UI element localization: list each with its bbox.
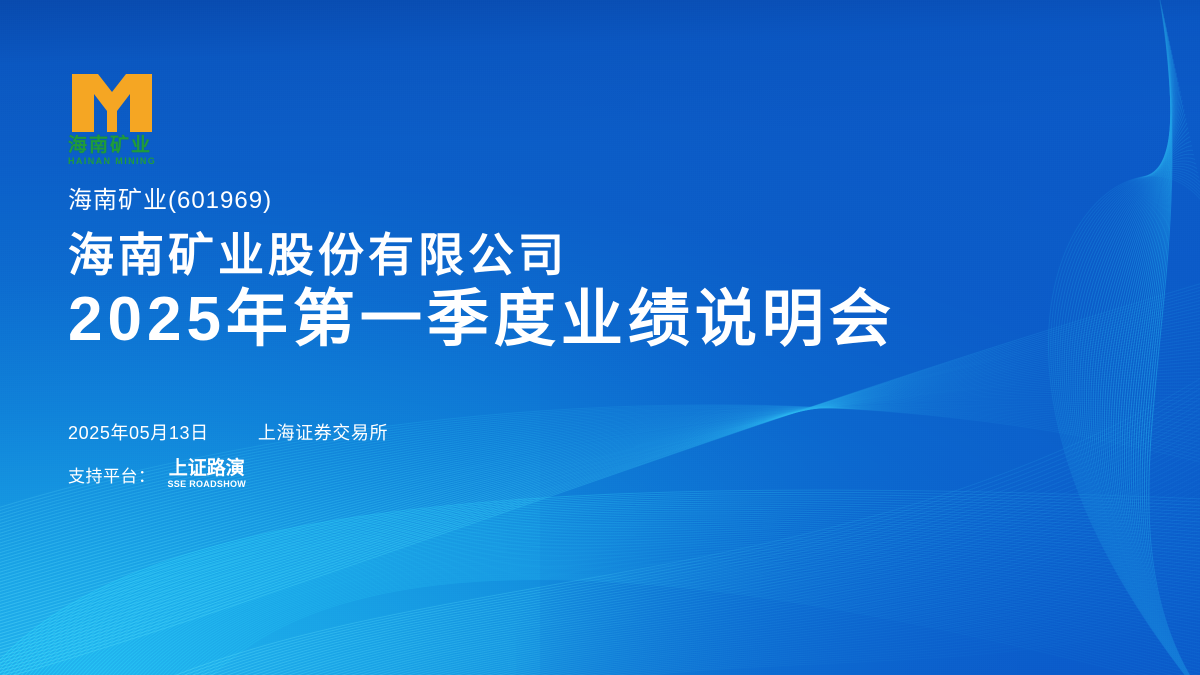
company-name: 海南矿业股份有限公司 bbox=[68, 228, 568, 282]
hainan-mining-m-monogram-icon bbox=[68, 72, 156, 134]
page-title: 2025年第一季度业绩说明会 bbox=[68, 283, 896, 356]
event-venue: 上海证券交易所 bbox=[258, 423, 388, 443]
supporting-platform: 支持平台： 上证路演 SSE ROADSHOW bbox=[68, 459, 246, 489]
event-date: 2025年05月13日 bbox=[68, 423, 209, 443]
company-logo: 海南矿业 HAINAN MINING bbox=[68, 72, 198, 166]
event-meta: 2025年05月13日 上海证券交易所 bbox=[68, 419, 388, 445]
sse-logo-chinese: 上证路演 bbox=[169, 459, 245, 478]
poster-content: 海南矿业 HAINAN MINING 海南矿业(601969) 海南矿业股份有限… bbox=[68, 0, 1158, 675]
logo-english-name: HAINAN MINING bbox=[68, 157, 198, 167]
stock-ticker: 海南矿业(601969) bbox=[68, 180, 272, 215]
sse-logo-english: SSE ROADSHOW bbox=[168, 480, 247, 489]
event-poster: 海南矿业 HAINAN MINING 海南矿业(601969) 海南矿业股份有限… bbox=[0, 0, 1200, 675]
platform-label: 支持平台： bbox=[68, 462, 156, 487]
sse-roadshow-logo: 上证路演 SSE ROADSHOW bbox=[168, 459, 247, 489]
logo-chinese-name: 海南矿业 bbox=[68, 135, 198, 156]
